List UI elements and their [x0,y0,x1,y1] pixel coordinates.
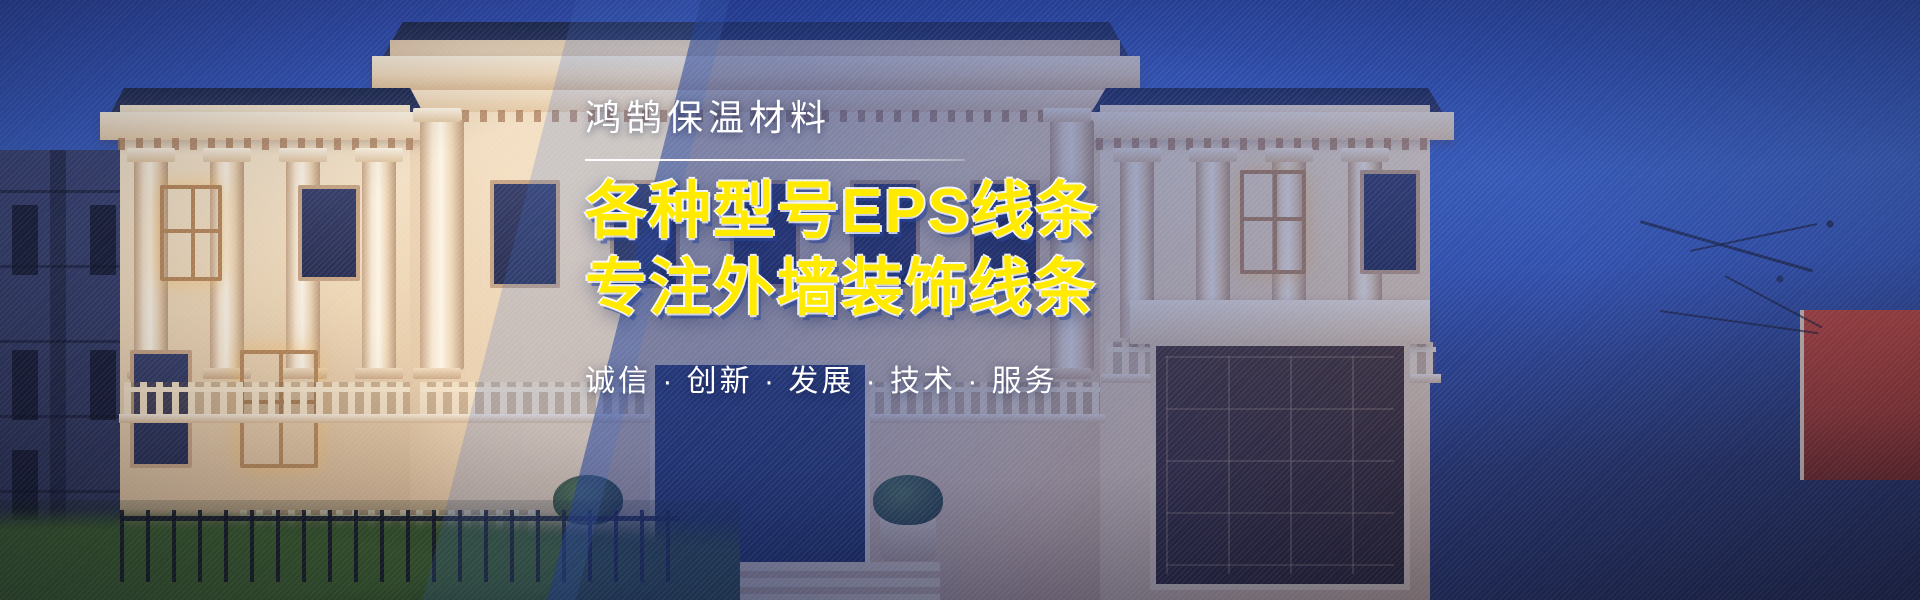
banner-copy: 鸿鹄保温材料 各种型号EPS线条 专注外墙装饰线条 诚信 · 创新 · 发展 ·… [585,96,1345,400]
brand-name: 鸿鹄保温材料 [585,96,1345,139]
headline-line-2: 专注外墙装饰线条 [585,252,1345,325]
slogan: 诚信 · 创新 · 发展 · 技术 · 服务 [585,356,1345,400]
promo-banner: 鸿鹄保温材料 各种型号EPS线条 专注外墙装饰线条 诚信 · 创新 · 发展 ·… [0,0,1920,600]
divider-rule [585,159,965,161]
lit-window [160,185,222,281]
headline-line-1: 各种型号EPS线条 [585,175,1345,248]
